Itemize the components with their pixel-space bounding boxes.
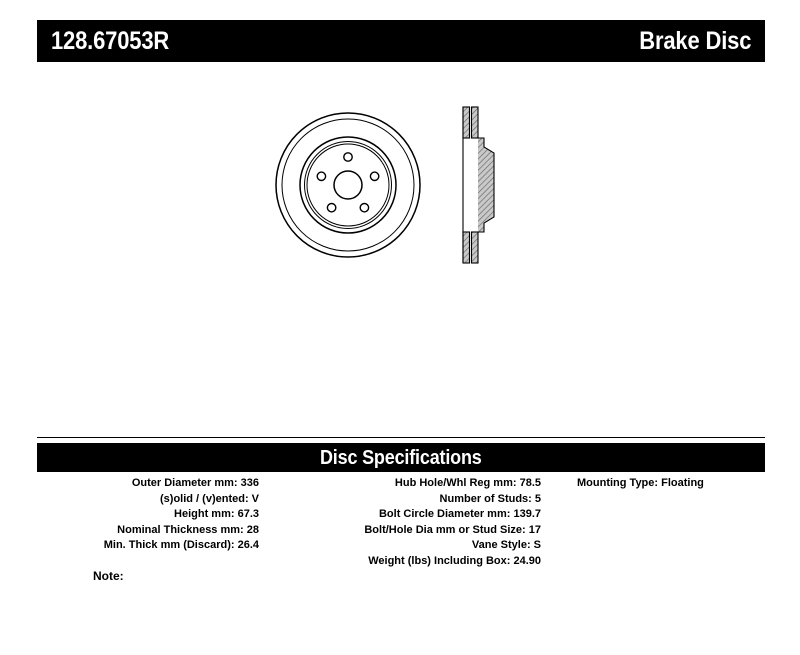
lower-inner-plate: [472, 232, 479, 263]
spec-row: Nominal Thickness mm: 28: [37, 523, 259, 539]
hub-bore: [334, 171, 362, 199]
separator-rule: [37, 437, 765, 438]
spec-row: Number of Studs: 5: [269, 492, 541, 508]
note-block: Note:: [93, 569, 133, 583]
spec-row: Bolt Circle Diameter mm: 139.7: [269, 507, 541, 523]
spec-sheet: 128.67053R Brake Disc: [0, 0, 800, 655]
spec-column-right: Mounting Type: Floating: [577, 476, 777, 492]
disc-specifications-title: Disc Specifications: [320, 448, 482, 468]
technical-drawing: [270, 95, 550, 305]
specifications-table: Outer Diameter mm: 336 (s)olid / (v)ente…: [37, 476, 765, 586]
lug-hole: [317, 172, 325, 180]
lug-hole: [327, 204, 335, 212]
note-label: Note:: [93, 569, 124, 583]
hat-face-edge: [307, 144, 389, 226]
upper-inner-plate: [472, 107, 479, 138]
hat-step-edge: [305, 142, 392, 229]
rotor-outer-edge: [276, 113, 420, 257]
header-bar: 128.67053R Brake Disc: [37, 20, 765, 62]
lug-hole: [344, 153, 352, 161]
hat-wall-profile: [478, 138, 494, 232]
spec-row: Min. Thick mm (Discard): 26.4: [37, 538, 259, 554]
spec-column-left: Outer Diameter mm: 336 (s)olid / (v)ente…: [37, 476, 259, 554]
spec-row: Vane Style: S: [269, 538, 541, 554]
disc-specifications-bar: Disc Specifications: [37, 443, 765, 472]
spec-row: Hub Hole/Whl Reg mm: 78.5: [269, 476, 541, 492]
hat-outer-edge: [300, 137, 396, 233]
spec-row: Outer Diameter mm: 336: [37, 476, 259, 492]
part-number: 128.67053R: [51, 29, 169, 54]
product-type-title: Brake Disc: [639, 29, 751, 54]
spec-column-middle: Hub Hole/Whl Reg mm: 78.5 Number of Stud…: [269, 476, 541, 570]
lower-outer-plate: [463, 232, 470, 263]
lug-hole: [360, 204, 368, 212]
spec-row: Mounting Type: Floating: [577, 476, 777, 492]
brake-disc-cross-section-view: [463, 107, 494, 263]
spec-row: Weight (lbs) Including Box: 24.90: [269, 554, 541, 570]
upper-outer-plate: [463, 107, 470, 138]
spec-row: Bolt/Hole Dia mm or Stud Size: 17: [269, 523, 541, 539]
spec-row: (s)olid / (v)ented: V: [37, 492, 259, 508]
brake-disc-face-view: [276, 113, 420, 257]
spec-row: Height mm: 67.3: [37, 507, 259, 523]
rotor-inner-edge: [282, 119, 414, 251]
lug-hole: [370, 172, 378, 180]
